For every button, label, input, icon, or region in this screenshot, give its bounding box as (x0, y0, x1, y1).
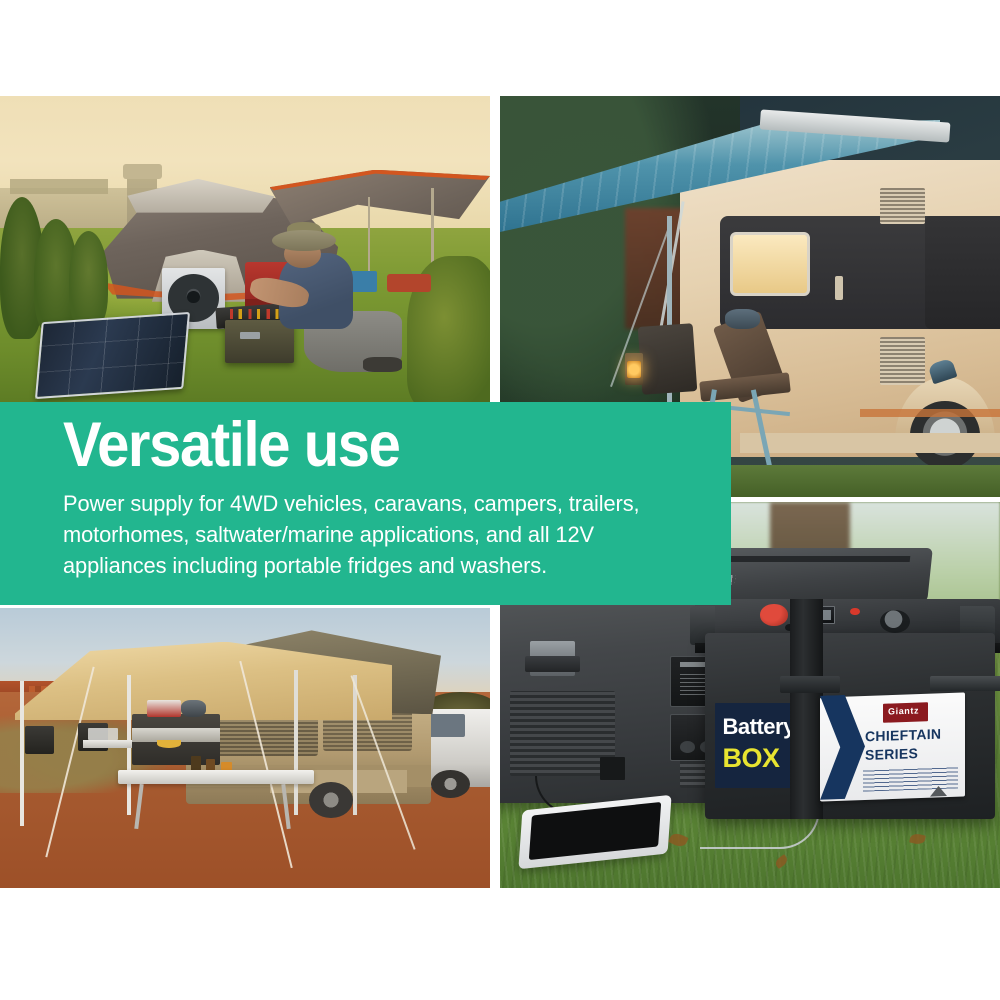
caravan-skirt (740, 433, 1000, 453)
battery-box-carry-handle[interactable] (930, 676, 1000, 691)
yellow-bowl (157, 740, 182, 748)
product-image-collage: Battery BOX Giantz CHIEFTAIN SERIES Vers… (0, 0, 1000, 1000)
folding-table (118, 770, 314, 784)
side-table (83, 740, 132, 748)
series-name-line2: SERIES (865, 746, 918, 762)
strap-buckle[interactable] (780, 676, 840, 693)
awning-pole (353, 675, 357, 815)
camp-chair-rear (638, 323, 698, 395)
solar-panel-cells (35, 312, 190, 399)
caravan-stripe (860, 409, 1000, 417)
kettle (181, 700, 206, 717)
battery-box-display (240, 332, 260, 338)
battery-box (225, 320, 294, 363)
fan-hub (187, 291, 200, 303)
water-tower-tank (123, 164, 162, 179)
awning-pole (20, 681, 24, 827)
battery-box-red-knob[interactable] (760, 604, 788, 625)
caravan-door-handle (835, 276, 843, 300)
camping-gear-red (387, 274, 431, 292)
caravan-vent (880, 188, 925, 224)
storage-tub (88, 728, 117, 739)
giantz-brand-name: Giantz (888, 706, 919, 716)
recliner-headrest (725, 309, 760, 329)
caravan-dark-panel (925, 216, 1000, 328)
caravan-window (730, 232, 810, 296)
lantern-flame (627, 361, 641, 379)
sticker-feature-bullets (863, 767, 958, 792)
camp-chair (25, 726, 54, 754)
person-shoe (363, 357, 402, 372)
fridge-handle-grip (525, 656, 580, 671)
battery-box-terminals (230, 309, 284, 318)
cooler-box (147, 700, 181, 717)
awning-pole (294, 670, 298, 816)
photo-outback-camper-trailer (0, 608, 490, 888)
background-building-roof (10, 179, 108, 194)
series-name-line1: CHIEFTAIN (865, 726, 941, 743)
versatile-use-banner: Versatile use Power supply for 4WD vehic… (0, 402, 731, 605)
conifer-bush (69, 231, 108, 329)
trailer-wheel (309, 782, 353, 818)
photo-camping-tent-solar (0, 96, 490, 403)
battery-label-line1: Battery (723, 716, 795, 738)
battery-label-line2: BOX (723, 745, 780, 772)
fridge-button[interactable] (680, 741, 695, 753)
banner-description: Power supply for 4WD vehicles, caravans,… (63, 488, 684, 581)
caravan-vent (880, 337, 925, 385)
battery-box-strap (790, 599, 823, 819)
banner-headline: Versatile use (63, 414, 400, 477)
bucket-hat-brim (272, 230, 336, 251)
